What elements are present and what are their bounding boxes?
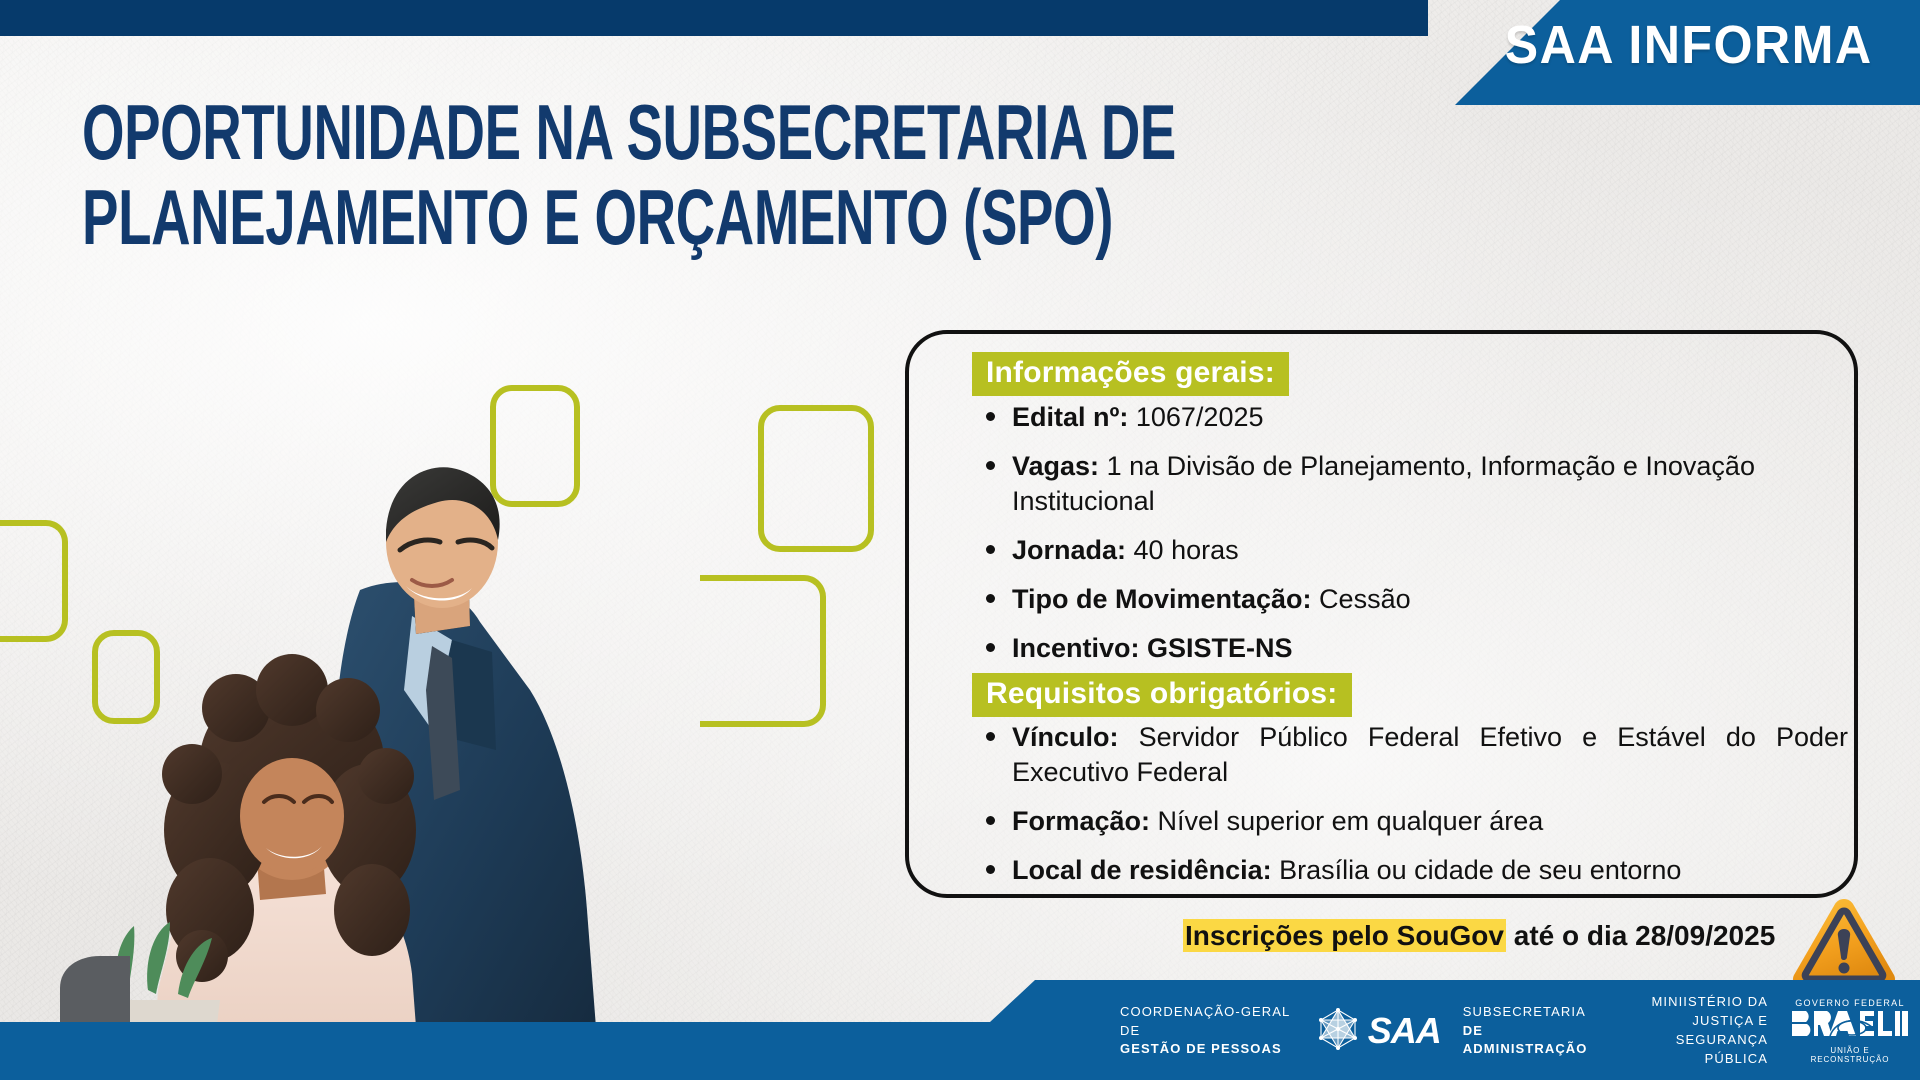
subsecretaria-logo: SUBSECRETARIA DE ADMINISTRAÇÃO — [1463, 1003, 1596, 1060]
item-value: Nível superior em qualquer área — [1150, 806, 1543, 836]
item-label: Vagas: — [1012, 451, 1099, 481]
list-item: Vínculo: Servidor Público Federal Efetiv… — [1008, 720, 1848, 790]
list-item: Vagas: 1 na Divisão de Planejamento, Inf… — [1008, 449, 1838, 519]
warning-triangle-icon — [1790, 895, 1898, 991]
list-item: Tipo de Movimentação: Cessão — [1008, 582, 1838, 617]
people-photo — [60, 390, 760, 1080]
general-info-heading: Informações gerais: — [972, 352, 1289, 396]
brasil-wordmark-icon — [1790, 1026, 1910, 1043]
item-value: 1 na Divisão de Planejamento, Informação… — [1012, 451, 1755, 516]
top-navy-strip — [0, 0, 1428, 36]
brasil-top-label: GOVERNO FEDERAL — [1790, 998, 1910, 1008]
list-item: Local de residência: Brasília ou cidade … — [1008, 853, 1848, 888]
item-label: Local de residência: — [1012, 855, 1272, 885]
poster-canvas: SAA INFORMA OPORTUNIDADE NA SUBSECRETARI… — [0, 0, 1920, 1080]
item-value: Servidor Público Federal Efetivo e Estáv… — [1012, 722, 1848, 787]
cggp-logo: COORDENAÇÃO-GERAL DE GESTÃO DE PESSOAS — [1120, 1003, 1294, 1060]
ministry-line-3: SEGURANÇA PÚBLICA — [1626, 1031, 1768, 1069]
subadm-line-1: SUBSECRETARIA — [1463, 1003, 1596, 1022]
item-label: Incentivo: GSISTE-NS — [1012, 633, 1293, 663]
brasil-bottom-label: UNIÃO E RECONSTRUÇÃO — [1790, 1046, 1910, 1064]
banner-dark-wedge — [1308, 0, 1428, 36]
ministry-line-2: JUSTIÇA E — [1626, 1012, 1768, 1031]
decorative-square-2 — [758, 405, 874, 552]
page-title-line-2: PLANEJAMENTO E ORÇAMENTO (SPO) — [82, 180, 859, 255]
decorative-square-3 — [0, 520, 68, 642]
ministry-line-1: MINIISTÉRIO DA — [1626, 993, 1768, 1012]
item-label: Edital nº: — [1012, 402, 1128, 432]
general-info-list: Edital nº: 1067/2025 Vagas: 1 na Divisão… — [980, 400, 1838, 681]
item-label: Vínculo: — [1012, 722, 1119, 752]
page-title: OPORTUNIDADE NA SUBSECRETARIA DE PLANEJA… — [82, 95, 859, 255]
list-item: Edital nº: 1067/2025 — [1008, 400, 1838, 435]
footer-logos: COORDENAÇÃO-GERAL DE GESTÃO DE PESSOAS — [1120, 996, 1910, 1066]
list-item: Formação: Nível superior em qualquer áre… — [1008, 804, 1848, 839]
ministry-logo: MINIISTÉRIO DA JUSTIÇA E SEGURANÇA PÚBLI… — [1626, 993, 1768, 1068]
item-label: Formação: — [1012, 806, 1150, 836]
deadline-highlight: até o dia 28/09/2025 — [1506, 920, 1775, 951]
cggp-line-1: COORDENAÇÃO-GERAL DE — [1120, 1003, 1294, 1041]
deadline-prefix: Inscrições pelo SouGov — [1183, 919, 1506, 952]
item-value: Cessão — [1312, 584, 1411, 614]
subadm-line-2: DE ADMINISTRAÇÃO — [1463, 1022, 1596, 1060]
saa-wordmark: SAA — [1368, 1010, 1441, 1052]
item-label: Jornada: — [1012, 535, 1126, 565]
item-value: 40 horas — [1126, 535, 1239, 565]
cggp-line-2: GESTÃO DE PESSOAS — [1120, 1040, 1294, 1059]
saa-polyhedron-icon — [1316, 1007, 1360, 1056]
saa-informa-label: SAA INFORMA — [1504, 14, 1872, 76]
page-title-line-1: OPORTUNIDADE NA SUBSECRETARIA DE — [82, 88, 1176, 176]
item-value: Brasília ou cidade de seu entorno — [1272, 855, 1682, 885]
governo-federal-logo: GOVERNO FEDERAL — [1790, 998, 1910, 1064]
deadline-text: Inscrições pelo SouGov até o dia 28/09/2… — [1183, 920, 1775, 952]
requirements-list: Vínculo: Servidor Público Federal Efetiv… — [980, 720, 1848, 888]
list-item: Jornada: 40 horas — [1008, 533, 1838, 568]
item-value: 1067/2025 — [1128, 402, 1263, 432]
list-item: Incentivo: GSISTE-NS — [1008, 631, 1838, 666]
item-label: Tipo de Movimentação: — [1012, 584, 1312, 614]
requirements-heading: Requisitos obrigatórios: — [972, 673, 1352, 717]
saa-logo: SAA — [1316, 1007, 1441, 1056]
